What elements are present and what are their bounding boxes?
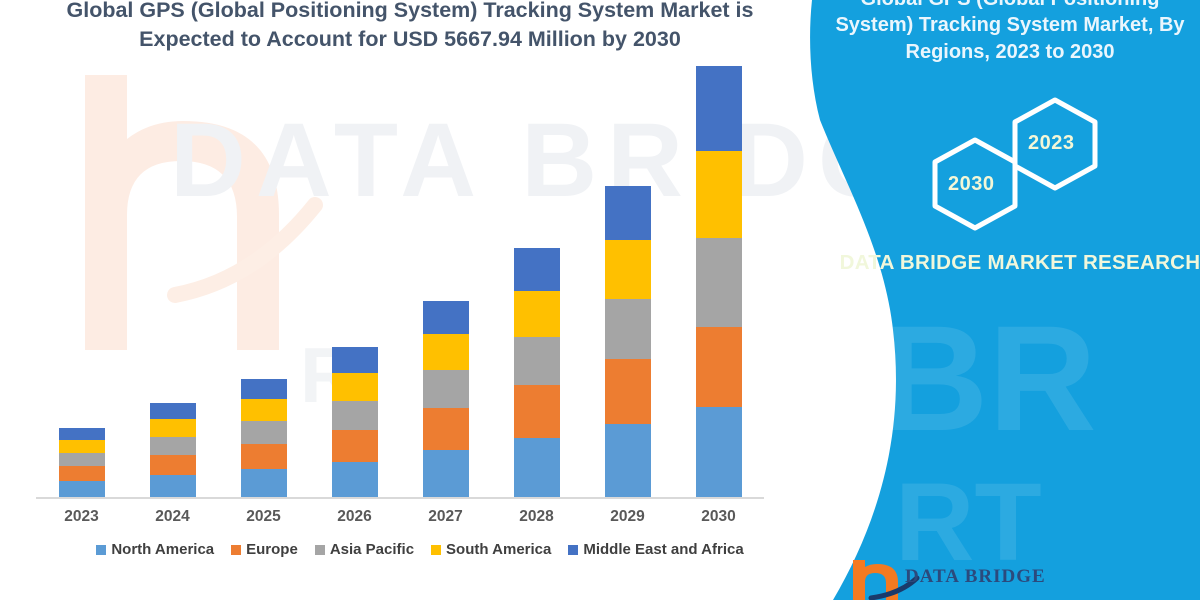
legend-swatch-icon	[431, 545, 441, 555]
corner-logo-text: DATA BRIDGE	[905, 566, 1046, 588]
legend-swatch-icon	[568, 545, 578, 555]
hex-label-2023: 2023	[1028, 132, 1075, 155]
segment-north-america-2029	[605, 424, 651, 498]
x-axis-label-2025: 2025	[224, 508, 304, 526]
segment-middle-east-and-africa-2030	[696, 66, 742, 151]
segment-asia-pacific-2028	[514, 337, 560, 385]
x-axis-label-2029: 2029	[588, 508, 668, 526]
segment-middle-east-and-africa-2028	[514, 248, 560, 291]
chart-legend: North AmericaEuropeAsia PacificSouth Ame…	[40, 541, 800, 558]
legend-item-middle-east-and-africa[interactable]: Middle East and Africa	[568, 541, 743, 558]
segment-europe-2025	[241, 444, 287, 469]
bar-2030	[696, 66, 742, 498]
segment-asia-pacific-2023	[59, 453, 105, 466]
segment-north-america-2030	[696, 407, 742, 498]
brand-name: DATA BRIDGE MARKET RESEARCH	[830, 248, 1200, 277]
segment-middle-east-and-africa-2023	[59, 428, 105, 440]
legend-item-europe[interactable]: Europe	[231, 541, 298, 558]
bar-2029	[605, 186, 651, 498]
segment-europe-2026	[332, 430, 378, 462]
page-title: Global GPS (Global Positioning System) T…	[0, 0, 820, 53]
bar-2025	[241, 379, 287, 498]
bar-2028	[514, 248, 560, 498]
segment-asia-pacific-2029	[605, 299, 651, 359]
x-axis-label-2023: 2023	[42, 508, 122, 526]
bar-2026	[332, 347, 378, 498]
x-axis-label-2028: 2028	[497, 508, 577, 526]
bar-2027	[423, 301, 469, 498]
segment-south-america-2029	[605, 240, 651, 299]
legend-item-south-america[interactable]: South America	[431, 541, 551, 558]
bar-2024	[150, 403, 196, 498]
x-axis-label-2030: 2030	[679, 508, 759, 526]
legend-label: North America	[111, 541, 214, 558]
segment-south-america-2026	[332, 373, 378, 401]
legend-item-asia-pacific[interactable]: Asia Pacific	[315, 541, 414, 558]
hexagon-outline-icon	[890, 92, 1140, 232]
segment-europe-2023	[59, 466, 105, 481]
chart-subtitle: Global GPS (Global Positioning System) T…	[820, 0, 1200, 65]
segment-asia-pacific-2030	[696, 238, 742, 327]
segment-europe-2030	[696, 327, 742, 407]
right-panel-content: Global GPS (Global Positioning System) T…	[880, 0, 1200, 600]
segment-south-america-2028	[514, 291, 560, 337]
segment-north-america-2026	[332, 462, 378, 498]
segment-asia-pacific-2026	[332, 401, 378, 430]
x-axis-line	[36, 497, 764, 499]
legend-swatch-icon	[231, 545, 241, 555]
segment-asia-pacific-2025	[241, 421, 287, 444]
segment-middle-east-and-africa-2025	[241, 379, 287, 399]
x-axis-labels: 20232024202520262027202820292030	[36, 508, 764, 534]
segment-north-america-2028	[514, 438, 560, 498]
segment-middle-east-and-africa-2024	[150, 403, 196, 419]
x-axis-label-2026: 2026	[315, 508, 395, 526]
legend-swatch-icon	[96, 545, 106, 555]
segment-europe-2028	[514, 385, 560, 438]
segment-europe-2024	[150, 455, 196, 475]
x-axis-label-2024: 2024	[133, 508, 213, 526]
legend-item-north-america[interactable]: North America	[96, 541, 214, 558]
segment-middle-east-and-africa-2029	[605, 186, 651, 240]
hex-label-2030: 2030	[948, 173, 995, 196]
stacked-bar-chart	[36, 120, 764, 498]
bar-2023	[59, 428, 105, 498]
legend-label: Asia Pacific	[330, 541, 414, 558]
segment-north-america-2025	[241, 469, 287, 498]
legend-label: Europe	[246, 541, 298, 558]
segment-south-america-2025	[241, 399, 287, 421]
segment-asia-pacific-2027	[423, 370, 469, 408]
segment-middle-east-and-africa-2027	[423, 301, 469, 334]
segment-north-america-2027	[423, 450, 469, 498]
chart-panel: DATA BRIDGE R Global GPS (Global Positio…	[0, 0, 860, 600]
segment-south-america-2023	[59, 440, 105, 453]
segment-north-america-2024	[150, 475, 196, 498]
segment-asia-pacific-2024	[150, 437, 196, 455]
segment-middle-east-and-africa-2026	[332, 347, 378, 373]
segment-south-america-2027	[423, 334, 469, 370]
segment-south-america-2030	[696, 151, 742, 238]
segment-south-america-2024	[150, 419, 196, 437]
segment-north-america-2023	[59, 481, 105, 498]
hexagon-badges: 2023 2030	[890, 92, 1140, 232]
legend-label: Middle East and Africa	[583, 541, 743, 558]
segment-europe-2029	[605, 359, 651, 424]
segment-europe-2027	[423, 408, 469, 450]
x-axis-label-2027: 2027	[406, 508, 486, 526]
legend-swatch-icon	[315, 545, 325, 555]
legend-label: South America	[446, 541, 551, 558]
